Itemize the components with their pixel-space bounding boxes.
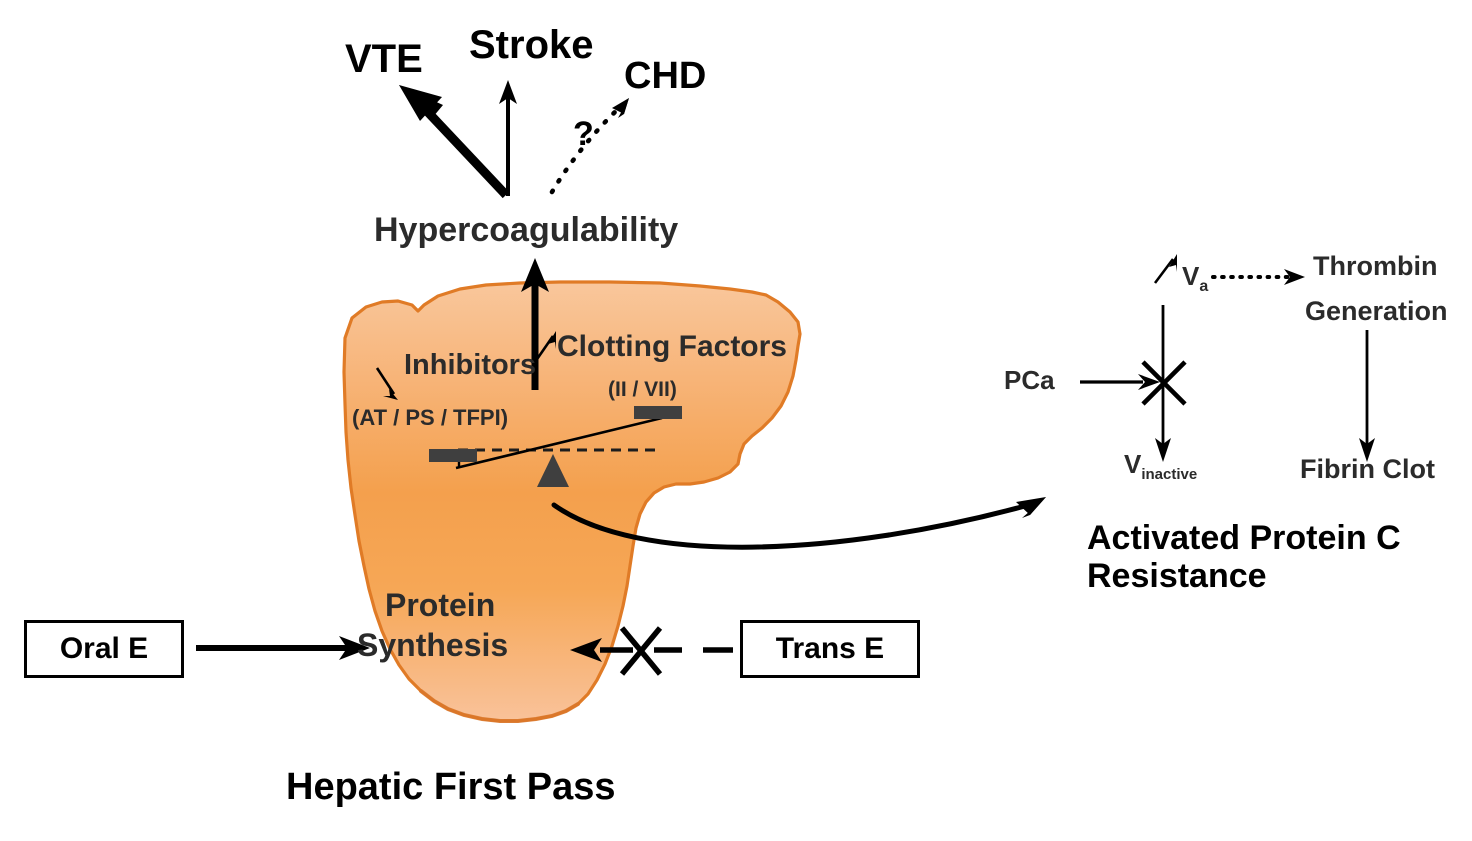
- arrow-va-to-thrombin: [1213, 269, 1305, 285]
- label-fibrin-clot: Fibrin Clot: [1300, 455, 1435, 484]
- label-thrombin: Thrombin: [1313, 252, 1437, 281]
- v-inactive-subscript: inactive: [1141, 466, 1197, 483]
- oral-e-label: Oral E: [60, 632, 148, 666]
- label-generation: Generation: [1305, 297, 1448, 326]
- label-question-mark: ?: [573, 116, 594, 153]
- trans-e-box[interactable]: Trans E: [740, 620, 920, 678]
- label-pca: PCa: [1004, 366, 1055, 394]
- v-inactive-base: V: [1124, 449, 1141, 479]
- label-protein-synthesis-line2: Synthesis: [357, 628, 508, 663]
- arrow-to-stroke: [499, 80, 517, 196]
- label-protein-synthesis-line1: Protein: [385, 588, 495, 623]
- label-apc-resistance-line1: Activated Protein C: [1087, 520, 1401, 557]
- arrow-pca-to-block: [1080, 374, 1160, 390]
- label-v-inactive: Vinactive: [1124, 450, 1197, 483]
- label-hepatic-first-pass: Hepatic First Pass: [286, 767, 615, 808]
- va-subscript: a: [1199, 278, 1208, 295]
- arrow-to-vte: [399, 85, 506, 195]
- balance-weight-left: [429, 449, 477, 462]
- va-up-arrow-icon: [1155, 254, 1177, 283]
- label-stroke: Stroke: [469, 24, 594, 67]
- va-base: V: [1182, 261, 1199, 291]
- label-vte: VTE: [345, 38, 423, 81]
- arrow-thrombin-to-fibrin: [1359, 330, 1375, 462]
- diagram-canvas: VTE Stroke CHD ? Hypercoagulability Clot…: [0, 0, 1472, 841]
- label-va: Va: [1182, 262, 1208, 295]
- label-chd: CHD: [624, 56, 706, 97]
- oral-e-box[interactable]: Oral E: [24, 620, 184, 678]
- label-inhibitors-sub: (AT / PS / TFPI): [352, 406, 508, 430]
- diagram-vector-layer: [0, 0, 1472, 841]
- label-clotting-factors: Clotting Factors: [557, 331, 787, 363]
- label-inhibitors: Inhibitors: [404, 350, 536, 381]
- balance-weight-right: [634, 406, 682, 419]
- label-hypercoagulability: Hypercoagulability: [374, 212, 678, 249]
- arrow-oral-e-to-protein-synthesis: [196, 636, 370, 660]
- trans-e-label: Trans E: [776, 632, 884, 666]
- label-apc-resistance-line2: Resistance: [1087, 558, 1267, 595]
- label-clotting-factors-sub: (II / VII): [608, 379, 677, 402]
